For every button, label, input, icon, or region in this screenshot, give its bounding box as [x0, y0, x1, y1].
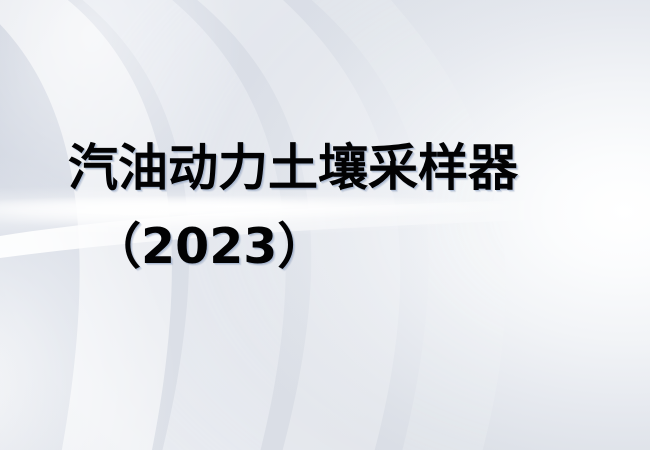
slide-subtitle-year: （2023）	[0, 222, 650, 273]
title-block: 汽油动力土壤采样器 （2023）	[0, 142, 650, 273]
slide-title: 汽油动力土壤采样器	[0, 142, 650, 194]
title-slide: 汽油动力土壤采样器 （2023）	[0, 0, 650, 450]
